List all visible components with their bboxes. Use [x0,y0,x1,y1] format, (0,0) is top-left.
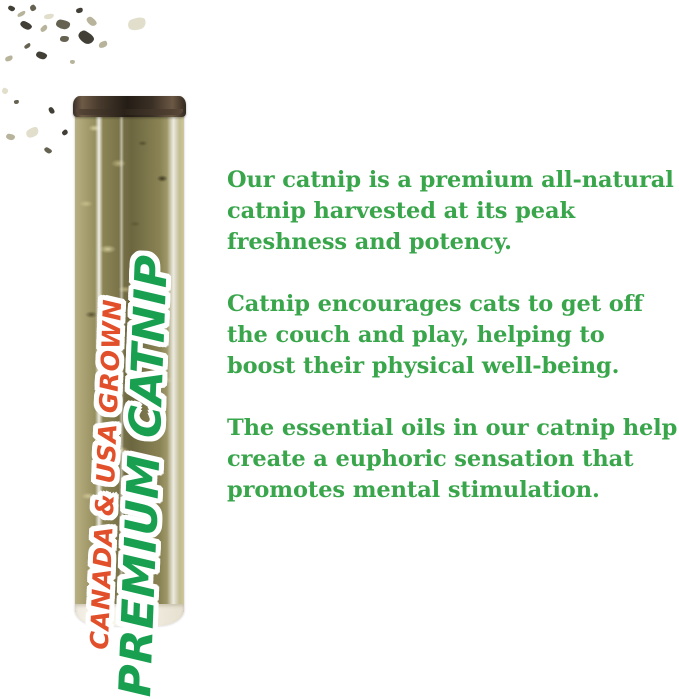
catnip-flake [4,54,13,62]
catnip-flake [47,106,55,115]
catnip-flake [98,40,109,50]
catnip-flake [6,133,16,140]
catnip-flake [24,42,32,50]
catnip-flake [43,146,52,154]
catnip-flake [76,29,95,47]
catnip-flake [17,10,27,18]
catnip-flake [35,51,47,60]
tube-cap[interactable] [73,96,186,117]
copy-paragraph-1: Our catnip is a premium all-natural catn… [227,165,679,258]
copy-paragraph-3: The essential oils in our catnip help cr… [227,413,679,506]
catnip-flake [1,87,9,95]
catnip-flake [55,19,70,30]
catnip-flake [127,16,148,33]
catnip-flake [44,13,55,20]
catnip-flake [14,99,20,104]
catnip-tube[interactable]: CANADA & USA GROWN PREMIUM CATNIP [73,96,186,628]
product-label-sticker: CANADA & USA GROWN PREMIUM CATNIP [62,290,198,660]
catnip-flake [39,24,48,33]
catnip-flake [19,20,33,31]
catnip-flake [60,36,69,43]
catnip-flake [29,4,37,12]
catnip-flake [25,125,41,140]
catnip-flake [75,7,83,14]
catnip-flake [7,5,15,12]
catnip-flake [85,15,98,27]
copy-paragraph-2: Catnip encourages cats to get off the co… [227,289,679,382]
catnip-flake [70,60,76,65]
catnip-flake [61,129,69,137]
marketing-copy-block: Our catnip is a premium all-natural catn… [227,165,679,506]
